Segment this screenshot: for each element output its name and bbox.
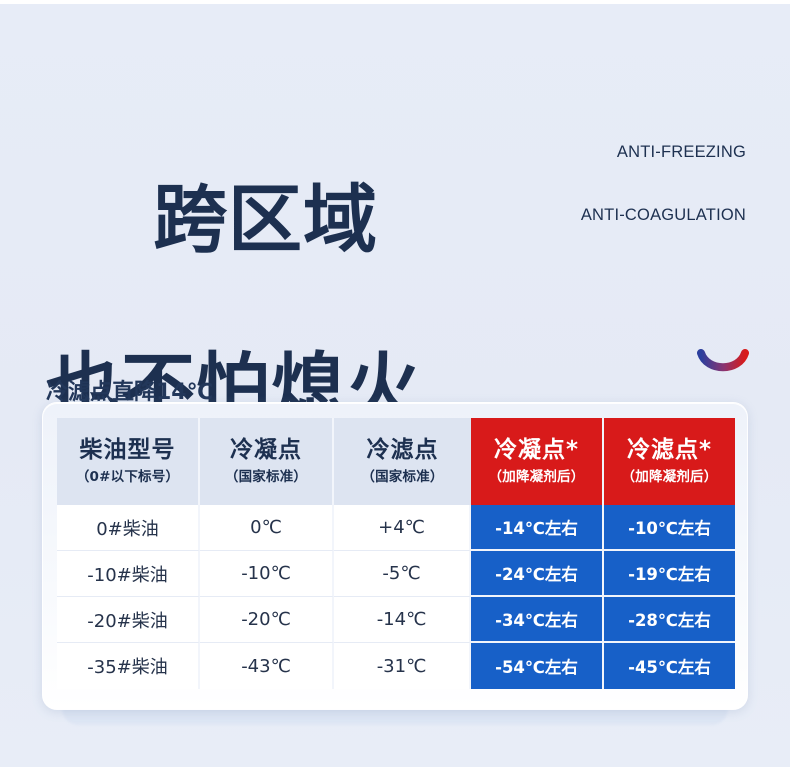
table-header-subtitle-0: （0#以下标号） [76,469,179,486]
table-cell-pour-point-treated: -14℃左右 [471,505,604,551]
table-cell-diesel-grade: -20#柴油 [57,597,200,643]
table-cell-diesel-grade: -10#柴油 [57,551,200,597]
table-header-subtitle-1: （国家标准） [225,469,307,486]
table-cell-pour-point-standard: -20℃ [200,597,334,643]
table-cell-cfpp-standard: +4℃ [334,505,471,551]
table-header-subtitle-4: （加降凝剂后） [622,469,718,486]
table-cell-pour-point-standard: -10℃ [200,551,334,597]
table-row: -10#柴油 -10℃ -5℃ -24℃左右 -19℃左右 [57,551,735,597]
table-header-cell-1: 冷凝点 （国家标准） [200,418,334,505]
english-tagline: ANTI-FREEZING ANTI-COAGULATION [581,100,746,268]
table-cell-pour-point-standard: -43℃ [200,643,334,689]
table-header-title-1: 冷凝点 [230,437,302,463]
table-cell-pour-point-standard: 0℃ [200,505,334,551]
table-header-row: 柴油型号 （0#以下标号） 冷凝点 （国家标准） 冷滤点 （国家标准） 冷凝点*… [57,418,735,505]
table-cell-cfpp-standard: -5℃ [334,551,471,597]
table-header-cell-0: 柴油型号 （0#以下标号） [57,418,200,505]
table-cell-pour-point-treated: -34℃左右 [471,597,604,643]
english-tagline-line-1: ANTI-FREEZING [581,142,746,163]
table-row: 0#柴油 0℃ +4℃ -14℃左右 -10℃左右 [57,505,735,551]
table-header-title-2: 冷滤点 [367,437,439,463]
diesel-spec-table: 柴油型号 （0#以下标号） 冷凝点 （国家标准） 冷滤点 （国家标准） 冷凝点*… [57,418,735,689]
table-cell-pour-point-treated: -24℃左右 [471,551,604,597]
table-header-cell-4: 冷滤点* （加降凝剂后） [604,418,735,505]
table-header-title-0: 柴油型号 [80,437,176,463]
table-header-title-3: 冷凝点* [494,437,579,463]
page-title-line-1: 跨区域 [153,177,378,263]
page-root: 跨区域 也不怕熄火 ANTI-FREEZING ANTI-COAGULATION… [0,0,790,767]
table-header-subtitle-2: （国家标准） [361,469,443,486]
table-cell-cfpp-standard: -14℃ [334,597,471,643]
table-cell-diesel-grade: -35#柴油 [57,643,200,689]
spec-table-card: 柴油型号 （0#以下标号） 冷凝点 （国家标准） 冷滤点 （国家标准） 冷凝点*… [42,402,748,710]
table-cell-cfpp-standard: -31℃ [334,643,471,689]
english-tagline-line-2: ANTI-COAGULATION [581,205,746,226]
table-cell-cfpp-treated: -45℃左右 [604,643,735,689]
table-row: -20#柴油 -20℃ -14℃ -34℃左右 -28℃左右 [57,597,735,643]
table-cell-cfpp-treated: -19℃左右 [604,551,735,597]
top-edge-strip [0,0,790,4]
table-cell-diesel-grade: 0#柴油 [57,505,200,551]
table-cell-cfpp-treated: -10℃左右 [604,505,735,551]
table-header-title-4: 冷滤点* [627,437,712,463]
table-header-cell-3: 冷凝点* （加降凝剂后） [471,418,604,505]
table-cell-cfpp-treated: -28℃左右 [604,597,735,643]
table-row: -35#柴油 -43℃ -31℃ -54℃左右 -45℃左右 [57,643,735,689]
table-header-subtitle-3: （加降凝剂后） [489,469,585,486]
table-cell-pour-point-treated: -54℃左右 [471,643,604,689]
smile-arc-icon [697,348,749,378]
table-header-cell-2: 冷滤点 （国家标准） [334,418,471,505]
